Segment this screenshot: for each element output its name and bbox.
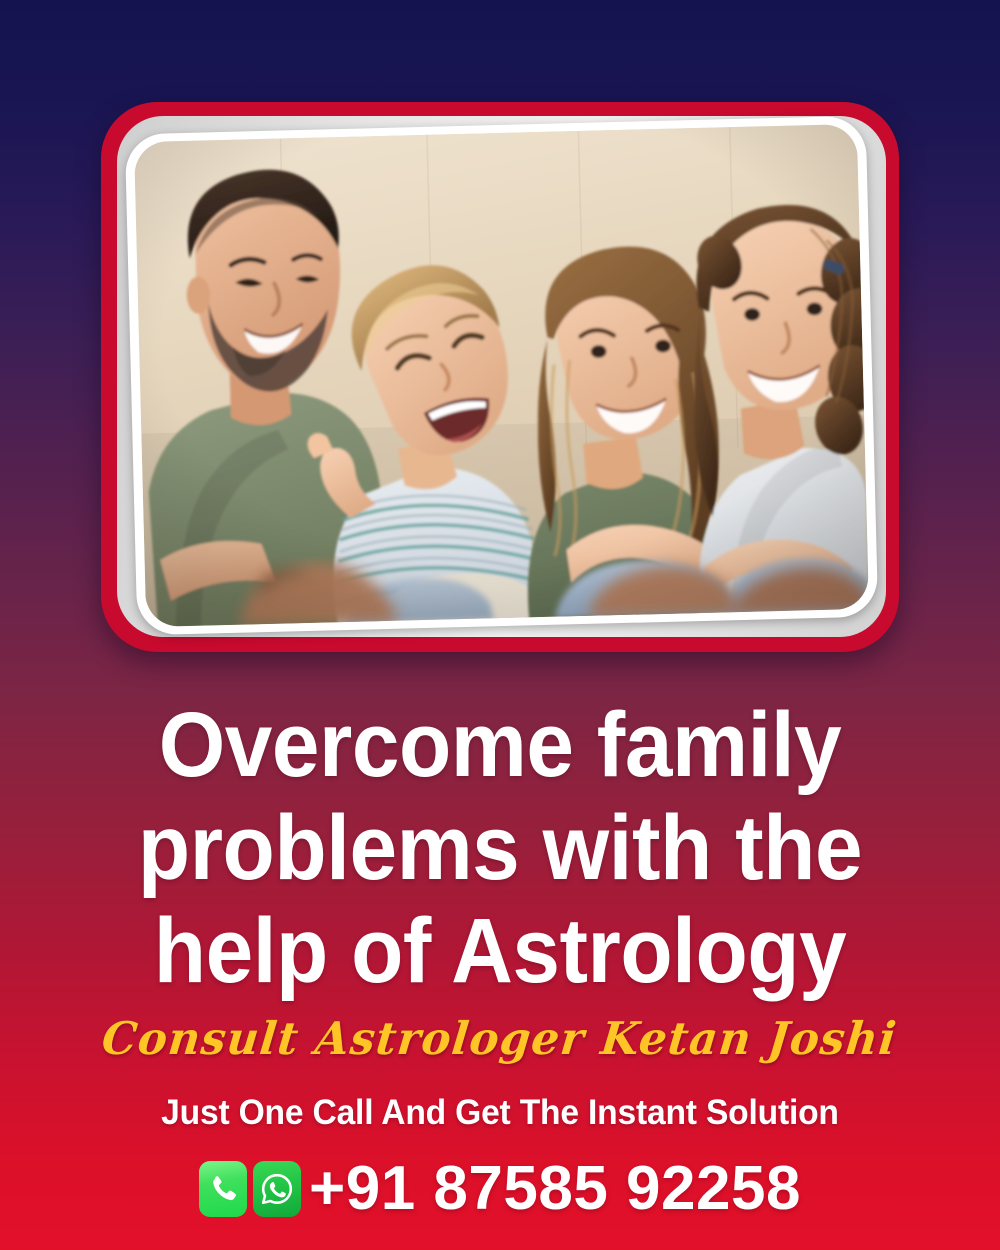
whatsapp-icon[interactable] bbox=[253, 1161, 301, 1217]
headline: Overcome family problems with the help o… bbox=[0, 694, 1000, 1003]
phone-call-icon[interactable] bbox=[199, 1161, 247, 1217]
script-subtitle-text: Consult Astrologer Ketan Joshi bbox=[100, 1012, 900, 1065]
photo-card bbox=[101, 102, 899, 652]
contact-row: +91 87585 92258 bbox=[0, 1158, 1000, 1220]
headline-line-2: problems with the bbox=[35, 797, 965, 900]
script-subtitle: Consult Astrologer Ketan Joshi bbox=[0, 1012, 1000, 1065]
tagline: Just One Call And Get The Instant Soluti… bbox=[0, 1093, 1000, 1133]
phone-number[interactable]: +91 87585 92258 bbox=[309, 1158, 801, 1220]
photo-white-border bbox=[125, 116, 878, 636]
poster-canvas: Overcome family problems with the help o… bbox=[0, 0, 1000, 1250]
headline-line-1: Overcome family bbox=[35, 694, 965, 797]
tagline-text: Just One Call And Get The Instant Soluti… bbox=[161, 1093, 839, 1133]
family-photo bbox=[134, 124, 869, 627]
headline-line-3: help of Astrology bbox=[35, 900, 965, 1003]
